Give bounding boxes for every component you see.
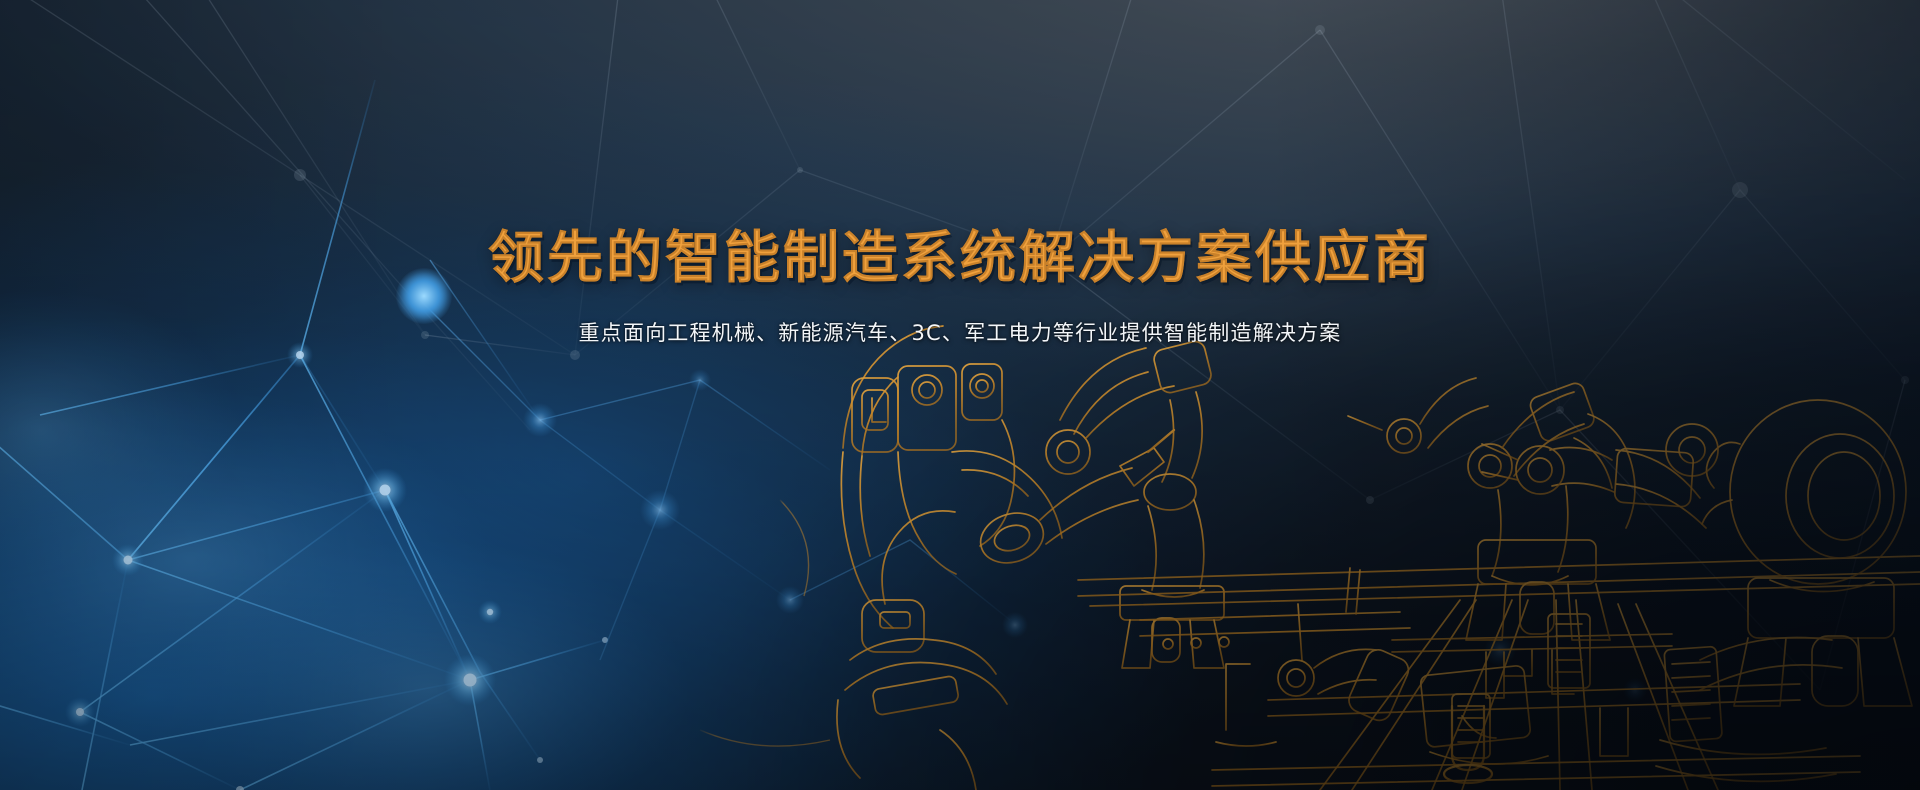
page-title: 领先的智能制造系统解决方案供应商 [0, 228, 1920, 291]
background-vignette [0, 0, 1920, 790]
hero-banner: 领先的智能制造系统解决方案供应商 重点面向工程机械、新能源汽车、3C、军工电力等… [0, 0, 1920, 790]
hero-text-block: 领先的智能制造系统解决方案供应商 重点面向工程机械、新能源汽车、3C、军工电力等… [0, 228, 1920, 347]
page-subtitle: 重点面向工程机械、新能源汽车、3C、军工电力等行业提供智能制造解决方案 [0, 317, 1920, 347]
